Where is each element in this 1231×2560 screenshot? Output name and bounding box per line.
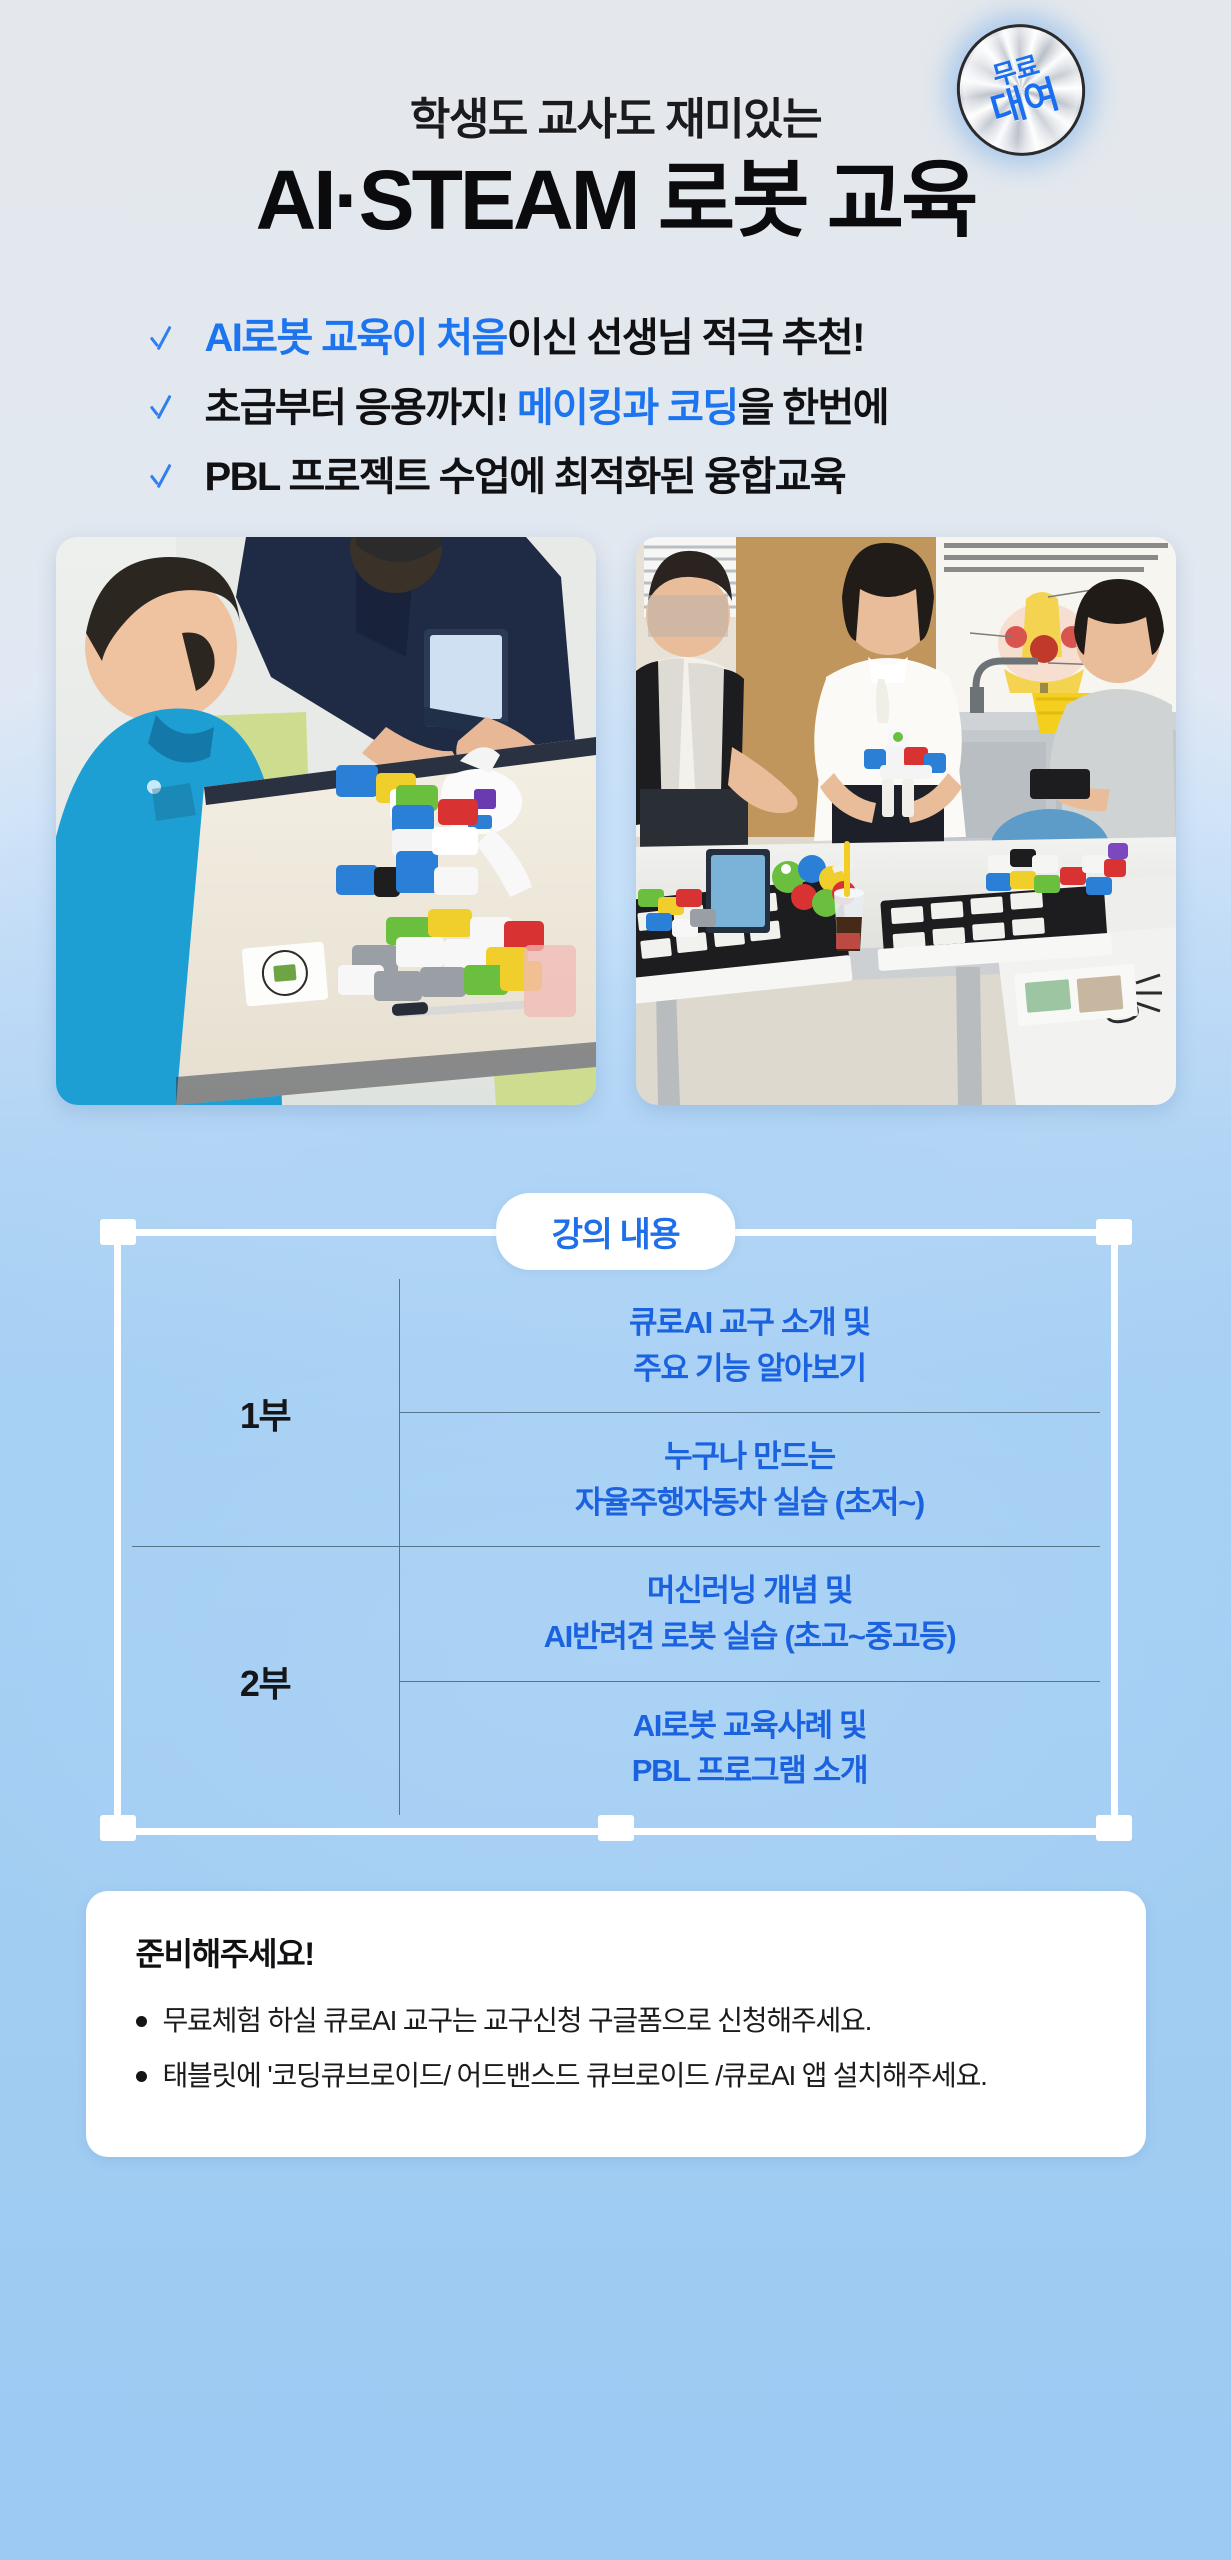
header: 무료 대여 학생도 교사도 재미있는 AI·STEAM 로봇 교육 <box>0 0 1231 245</box>
frame-corner-bottom-right <box>1096 1815 1132 1841</box>
notice-box: 준비해주세요! 무료체험 하실 큐로AI 교구는 교구신청 구글폼으로 신청해주… <box>86 1891 1146 2157</box>
bullet-1-rest: 이신 선생님 적극 추천! <box>507 316 864 360</box>
feature-bullet-list: AI로봇 교육이 처음이신 선생님 적극 추천! 초급부터 응용까지! 메이킹과… <box>111 315 1121 501</box>
topic-3-line-1: 머신러닝 개념 및 <box>647 1572 852 1610</box>
topic-4-line-1: AI로봇 교육사례 및 <box>633 1707 867 1745</box>
topic-3-line-2: AI반려견 로봇 실습 (초고~중고등) <box>544 1618 956 1656</box>
topic-2-line-2: 자율주행자동차 실습 (초저~) <box>575 1484 924 1522</box>
notice-item-text-1: 무료체험 하실 큐로AI 교구는 교구신청 구글폼으로 신청해주세요. <box>163 2001 872 2042</box>
topic-4-line-2: PBL 프로그램 소개 <box>632 1752 868 1790</box>
curriculum-table: 1부 2부 큐로AI 교구 소개 및 주요 기능 알아보기 누구나 만드는 자율… <box>132 1279 1100 1815</box>
bullet-dot-icon <box>136 2016 147 2027</box>
curriculum-topic-column: 큐로AI 교구 소개 및 주요 기능 알아보기 누구나 만드는 자율주행자동차 … <box>400 1279 1100 1815</box>
table-row-part-2: 2부 <box>132 1547 399 1815</box>
table-row-part-1: 1부 <box>132 1279 399 1548</box>
bullet-text-3: PBL 프로젝트 수업에 최적화된 융합교육 <box>205 454 846 501</box>
curriculum-section-pill: 강의 내용 <box>496 1193 736 1270</box>
curriculum-frame: 강의 내용 1부 2부 큐로AI 교구 소개 및 주요 기능 알아보기 누구나 … <box>92 1193 1140 1849</box>
bullet-2-highlight: 메이킹과 코딩 <box>517 386 738 430</box>
frame-corner-bottom-left <box>100 1815 136 1841</box>
photo-teacher-workshop <box>636 537 1176 1105</box>
notice-list: 무료체험 하실 큐로AI 교구는 교구신청 구글폼으로 신청해주세요. 태블릿에… <box>136 2001 1096 2097</box>
frame-corner-top-left <box>100 1219 136 1245</box>
frame-rail-right <box>1111 1229 1118 1835</box>
frame-corner-bottom-center <box>598 1815 634 1841</box>
list-item: 태블릿에 '코딩큐브로이드/ 어드밴스드 큐브로이드 /큐로AI 앱 설치해주세… <box>136 2056 1096 2097</box>
list-item: 무료체험 하실 큐로AI 교구는 교구신청 구글폼으로 신청해주세요. <box>136 2001 1096 2042</box>
bullet-dot-icon <box>136 2071 147 2082</box>
bullet-text-1: AI로봇 교육이 처음이신 선생님 적극 추천! <box>205 315 864 362</box>
checkmark-icon <box>149 322 179 356</box>
bullet-item-3: PBL 프로젝트 수업에 최적화된 융합교육 <box>111 454 1121 501</box>
bullet-2-rest: 을 한번에 <box>738 386 888 430</box>
poster-root: 무료 대여 학생도 교사도 재미있는 AI·STEAM 로봇 교육 AI로봇 교… <box>0 0 1231 2560</box>
page-title: AI·STEAM 로봇 교육 <box>0 156 1231 245</box>
curriculum-part-column: 1부 2부 <box>132 1279 400 1815</box>
table-row-topic-1: 큐로AI 교구 소개 및 주요 기능 알아보기 <box>400 1279 1100 1413</box>
bullet-1-highlight: AI로봇 교육이 처음 <box>205 316 507 360</box>
free-rental-badge: 무료 대여 <box>941 9 1100 171</box>
frame-corner-top-right <box>1096 1219 1132 1245</box>
table-row-topic-2: 누구나 만드는 자율주행자동차 실습 (초저~) <box>400 1413 1100 1547</box>
badge-text: 무료 대여 <box>941 9 1100 171</box>
bullet-item-2: 초급부터 응용까지! 메이킹과 코딩을 한번에 <box>111 385 1121 432</box>
checkmark-icon <box>149 460 179 494</box>
notice-item-text-2: 태블릿에 '코딩큐브로이드/ 어드밴스드 큐브로이드 /큐로AI 앱 설치해주세… <box>163 2056 987 2097</box>
photo-gallery <box>56 537 1176 1105</box>
topic-1-line-2: 주요 기능 알아보기 <box>633 1350 865 1388</box>
bullet-item-1: AI로봇 교육이 처음이신 선생님 적극 추천! <box>111 315 1121 362</box>
notice-title: 준비해주세요! <box>136 1929 1096 1975</box>
curriculum-section-label: 강의 내용 <box>552 1216 680 1254</box>
frame-rail-top-left <box>114 1229 498 1236</box>
photo-student-teacher <box>56 537 596 1105</box>
checkmark-icon <box>149 391 179 425</box>
topic-1-line-1: 큐로AI 교구 소개 및 <box>629 1304 870 1342</box>
table-row-topic-4: AI로봇 교육사례 및 PBL 프로그램 소개 <box>400 1682 1100 1815</box>
frame-rail-left <box>114 1229 121 1835</box>
topic-2-line-1: 누구나 만드는 <box>664 1438 835 1476</box>
frame-rail-top-right <box>734 1229 1118 1236</box>
bullet-text-2: 초급부터 응용까지! 메이킹과 코딩을 한번에 <box>205 385 888 432</box>
curriculum-section: 강의 내용 1부 2부 큐로AI 교구 소개 및 주요 기능 알아보기 누구나 … <box>92 1193 1140 1849</box>
table-row-topic-3: 머신러닝 개념 및 AI반려견 로봇 실습 (초고~중고등) <box>400 1547 1100 1681</box>
bullet-2-pre: 초급부터 응용까지! <box>205 386 517 430</box>
